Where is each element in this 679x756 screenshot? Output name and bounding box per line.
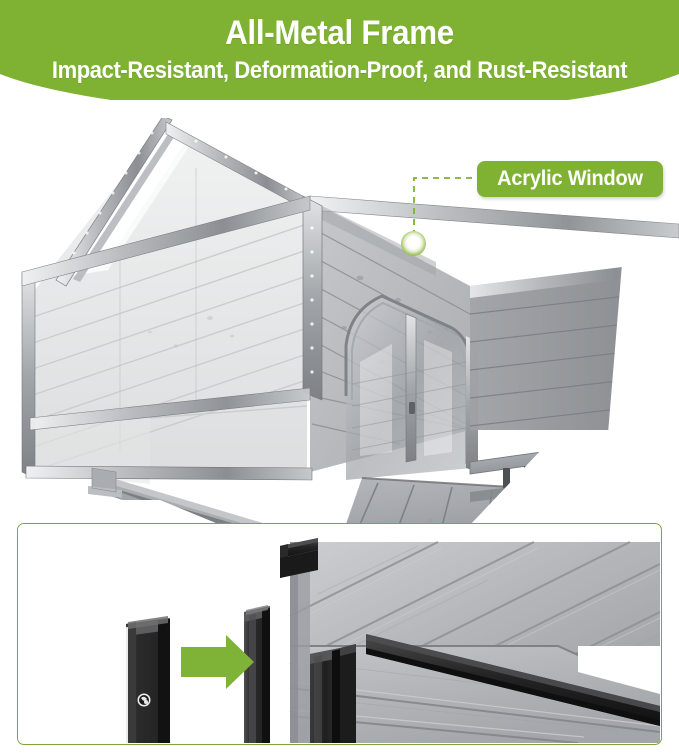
callout-marker-dot xyxy=(401,231,426,256)
page-subtitle: Impact-Resistant, Deformation-Proof, and… xyxy=(29,57,650,85)
frame-installation-illustration xyxy=(18,524,660,743)
page-title: All-Metal Frame xyxy=(27,14,652,52)
callout-label: Acrylic Window xyxy=(482,161,659,197)
detail-panel xyxy=(17,523,662,745)
product-feature-image: All-Metal Frame Impact-Resistant, Deform… xyxy=(0,0,679,756)
callout-acrylic-window[interactable]: Acrylic Window xyxy=(477,161,663,197)
